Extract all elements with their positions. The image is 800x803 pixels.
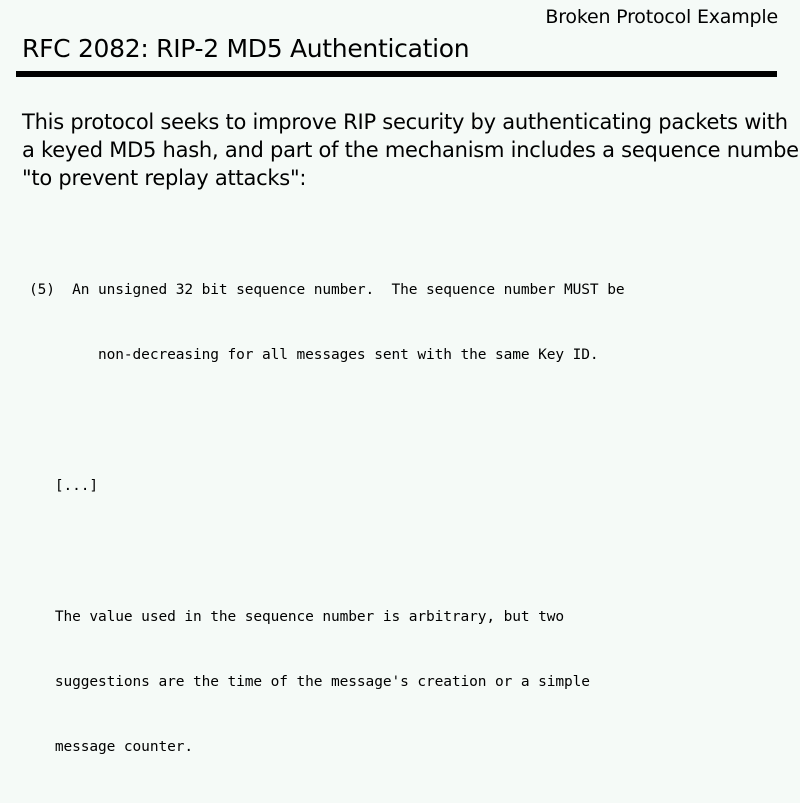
- quote-line: message counter.: [29, 737, 624, 759]
- quote-line: (5) An unsigned 32 bit sequence number. …: [29, 280, 624, 302]
- quote-line: non-decreasing for all messages sent wit…: [29, 345, 624, 367]
- presentation-slide: Broken Protocol Example RFC 2082: RIP-2 …: [0, 0, 800, 600]
- slide-kicker: Broken Protocol Example: [0, 6, 778, 28]
- page-title: RFC 2082: RIP-2 MD5 Authentication: [22, 34, 469, 64]
- quote-line-ellipsis: [...]: [29, 476, 624, 498]
- title-divider: [16, 71, 777, 77]
- intro-line: a keyed MD5 hash, and part of the mechan…: [22, 136, 774, 164]
- intro-paragraph: This protocol seeks to improve RIP secur…: [22, 108, 774, 192]
- quote-line: suggestions are the time of the message'…: [29, 672, 624, 694]
- quote-line: The value used in the sequence number is…: [29, 607, 624, 629]
- rfc-quote-block: (5) An unsigned 32 bit sequence number. …: [29, 236, 624, 803]
- intro-line: This protocol seeks to improve RIP secur…: [22, 108, 774, 136]
- quote-spacer: [29, 541, 624, 563]
- quote-spacer: [29, 410, 624, 432]
- intro-line: "to prevent replay attacks":: [22, 164, 774, 192]
